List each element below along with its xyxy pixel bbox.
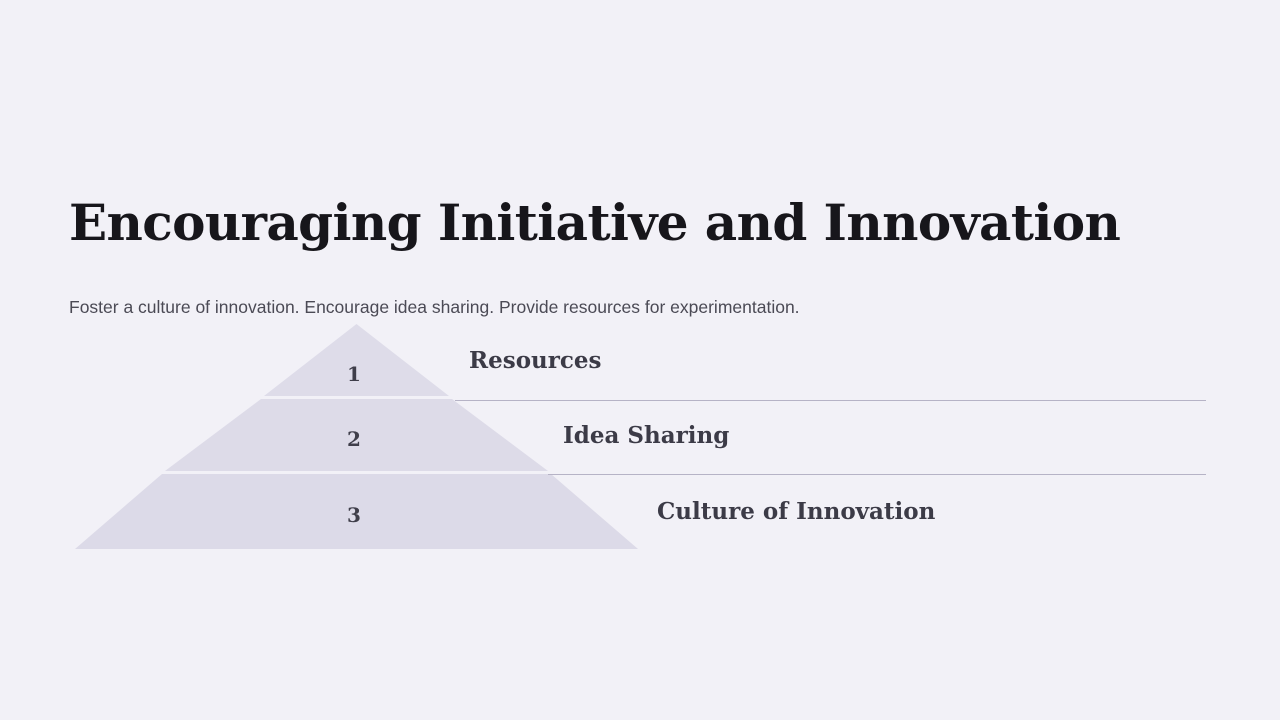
page-title: Encouraging Initiative and Innovation [69,194,1209,252]
pyramid-tier-2-label: Idea Sharing [563,422,729,449]
presentation-slide: Encouraging Initiative and Innovation Fo… [0,0,1280,720]
pyramid-tier-1-number: 1 [334,362,374,386]
tier-1-divider [455,400,1206,401]
slide-subtitle: Foster a culture of innovation. Encourag… [69,295,1169,320]
pyramid-tier-2-number: 2 [334,427,374,451]
pyramid-tier-3-label: Culture of Innovation [657,498,935,525]
pyramid-tier-3-number: 3 [334,503,374,527]
tier-2-divider [548,474,1206,475]
pyramid-tier-1-label: Resources [469,347,601,374]
